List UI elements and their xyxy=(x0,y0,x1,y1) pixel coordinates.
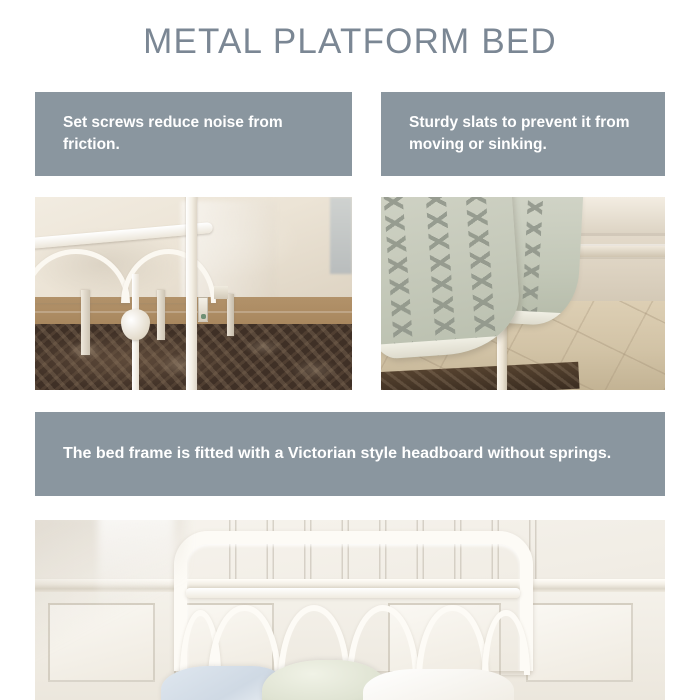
slat-support-scene xyxy=(381,197,665,390)
photo-footboard-detail: Close-up of white metal bed footboard wi… xyxy=(35,197,352,390)
photo-slat-support-detail: Sage green chevron patterned blanket dra… xyxy=(381,197,665,390)
sunlight-highlight xyxy=(98,520,174,646)
chevron-stripe xyxy=(521,197,544,327)
caption-victorian-headboard-text: The bed frame is fitted with a Victorian… xyxy=(63,442,611,465)
wall-strip xyxy=(330,197,352,274)
caption-sturdy-slats-text: Sturdy slats to prevent it from moving o… xyxy=(409,112,639,157)
set-screw xyxy=(201,314,206,319)
headboard-scene xyxy=(35,520,665,700)
footboard-scene xyxy=(35,197,352,390)
chevron-stripe xyxy=(382,197,415,360)
headboard-cross-rail xyxy=(186,588,520,598)
leg-finial xyxy=(121,309,150,340)
chevron-stripe xyxy=(425,197,458,360)
photo-victorian-headboard: White Victorian style metal headboard wi… xyxy=(35,520,665,700)
support-leg-3 xyxy=(227,294,235,336)
wainscot-panel xyxy=(526,603,633,682)
support-leg-2 xyxy=(157,290,165,340)
corner-post xyxy=(186,197,197,390)
caption-set-screws: Set screws reduce noise from friction. xyxy=(35,92,352,176)
chevron-blanket-front xyxy=(381,197,523,360)
caption-set-screws-text: Set screws reduce noise from friction. xyxy=(63,112,326,157)
infographic-page: METAL PLATFORM BED Set screws reduce noi… xyxy=(0,0,700,700)
frame-bracket-upper xyxy=(214,286,228,300)
support-leg-1 xyxy=(81,290,90,356)
caption-sturdy-slats: Sturdy slats to prevent it from moving o… xyxy=(381,92,665,176)
page-title: METAL PLATFORM BED xyxy=(0,22,700,62)
caption-victorian-headboard: The bed frame is fitted with a Victorian… xyxy=(35,412,665,496)
pillow-white xyxy=(363,669,514,700)
